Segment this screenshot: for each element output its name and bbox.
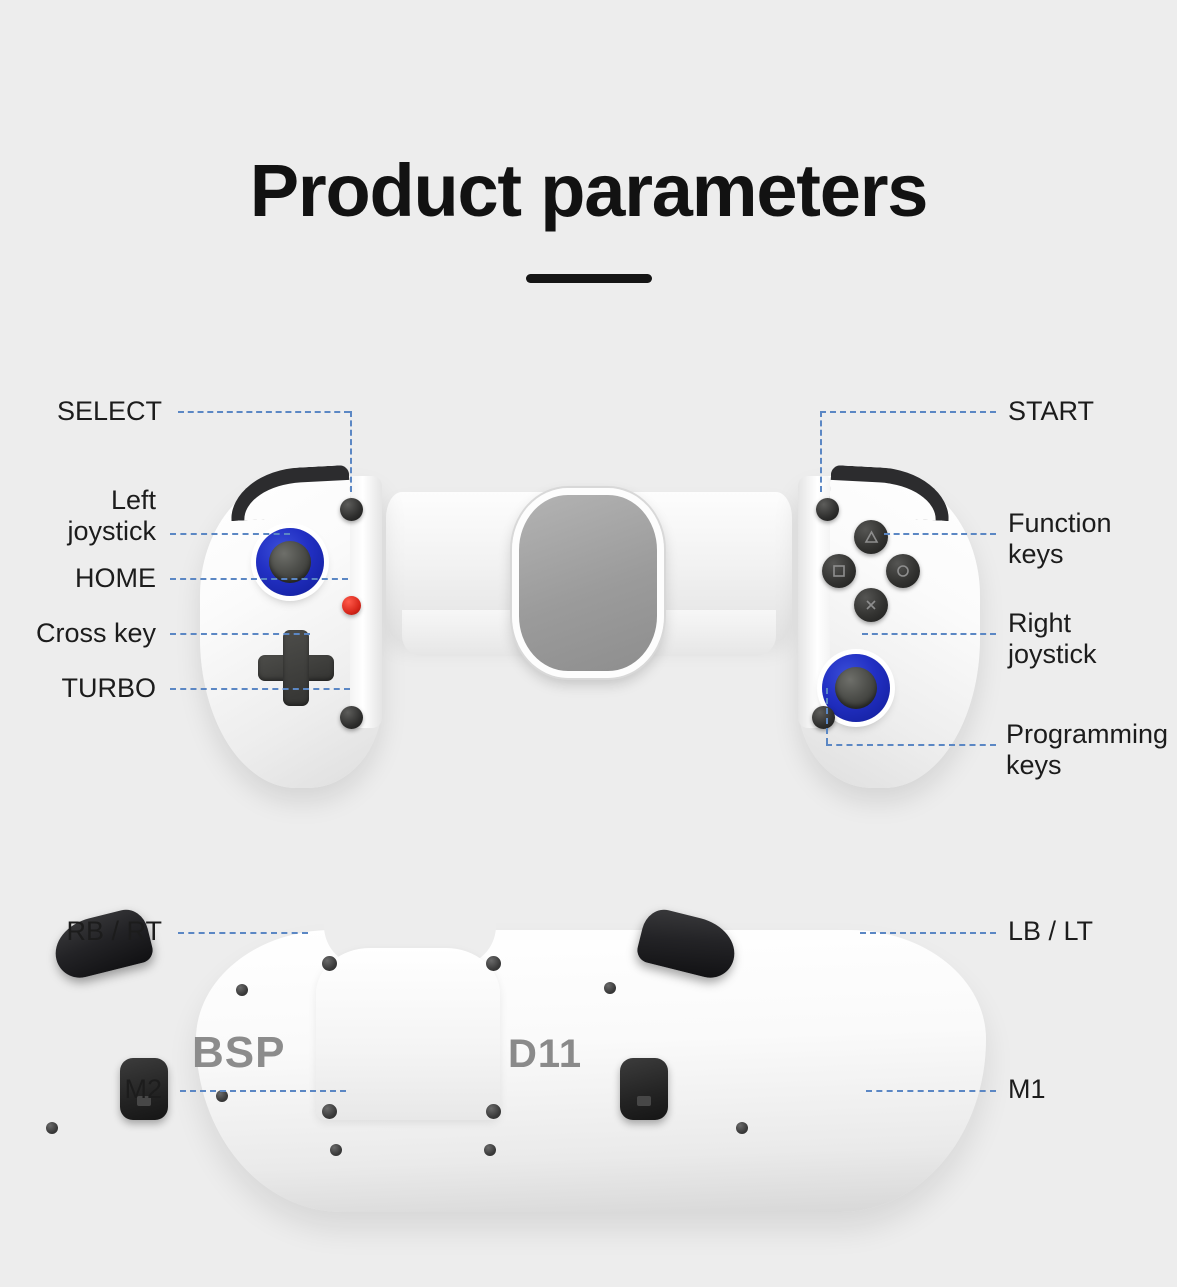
- shell-screw: [604, 982, 616, 994]
- leader-rb-rt: [178, 932, 308, 934]
- label-cross-key: Cross key: [0, 618, 156, 649]
- function-key-cross-icon[interactable]: [854, 588, 888, 622]
- shell-screw: [736, 1122, 748, 1134]
- leader-start-v: [820, 411, 822, 492]
- plate-screw: [486, 1104, 501, 1119]
- leader-programming-h: [826, 744, 996, 746]
- label-m1: M1: [1008, 1074, 1177, 1105]
- leader-turbo: [170, 688, 350, 690]
- programming-button[interactable]: [812, 706, 835, 729]
- front-view-diagram: [0, 430, 1177, 820]
- label-start: START: [1008, 396, 1177, 427]
- label-select: SELECT: [0, 396, 162, 427]
- plate-screw: [322, 956, 337, 971]
- controller-back-shell: [196, 930, 986, 1212]
- right-controller-module: [782, 458, 980, 788]
- label-programming-keys: Programming keys: [1006, 719, 1177, 781]
- label-m2: M2: [0, 1074, 162, 1105]
- leader-home: [170, 578, 348, 580]
- leader-m2: [180, 1090, 346, 1092]
- select-button[interactable]: [340, 498, 363, 521]
- leader-left-joystick: [170, 533, 290, 535]
- shell-screw: [236, 984, 248, 996]
- brand-logo: BSP: [192, 1028, 285, 1078]
- page-header: Product parameters: [0, 0, 1177, 283]
- shell-screw: [330, 1144, 342, 1156]
- plate-screw: [322, 1104, 337, 1119]
- turbo-button[interactable]: [340, 706, 363, 729]
- start-button[interactable]: [816, 498, 839, 521]
- leader-right-joystick: [862, 633, 996, 635]
- label-right-joystick: Right joystick: [1008, 608, 1177, 670]
- page-title: Product parameters: [0, 0, 1177, 230]
- leader-programming-v: [826, 688, 828, 744]
- plate-screw: [486, 956, 501, 971]
- left-joystick[interactable]: [256, 528, 324, 596]
- leader-m1: [866, 1090, 996, 1092]
- label-function-keys: Function keys: [1008, 508, 1177, 570]
- label-left-joystick: Left joystick: [0, 485, 156, 547]
- left-shoulder-trigger: [229, 465, 351, 521]
- model-name: D11: [508, 1032, 582, 1077]
- phone-holder-pad: [512, 488, 664, 678]
- cross-key-dpad[interactable]: [258, 630, 334, 706]
- m1-back-button[interactable]: [620, 1058, 668, 1120]
- left-controller-module: [200, 458, 398, 788]
- leader-lb-lt: [860, 932, 996, 934]
- home-button[interactable]: [342, 596, 361, 615]
- leader-select-h: [178, 411, 350, 413]
- function-key-circle-icon[interactable]: [886, 554, 920, 588]
- shell-screw: [46, 1122, 58, 1134]
- function-key-triangle-icon[interactable]: [854, 520, 888, 554]
- leader-start-h: [820, 411, 996, 413]
- leader-function-keys: [884, 533, 996, 535]
- title-divider: [526, 274, 652, 283]
- label-lb-lt: LB / LT: [1008, 916, 1177, 947]
- shell-screw: [484, 1144, 496, 1156]
- function-key-square-icon[interactable]: [822, 554, 856, 588]
- back-view-diagram: BSP D11: [0, 900, 1177, 1240]
- leader-cross-key: [170, 633, 310, 635]
- label-turbo: TURBO: [0, 673, 156, 704]
- label-home: HOME: [0, 563, 156, 594]
- back-center-plate: [316, 948, 500, 1120]
- label-rb-rt: RB / RT: [0, 916, 162, 947]
- leader-select-v: [350, 411, 352, 492]
- right-shoulder-trigger: [829, 465, 951, 521]
